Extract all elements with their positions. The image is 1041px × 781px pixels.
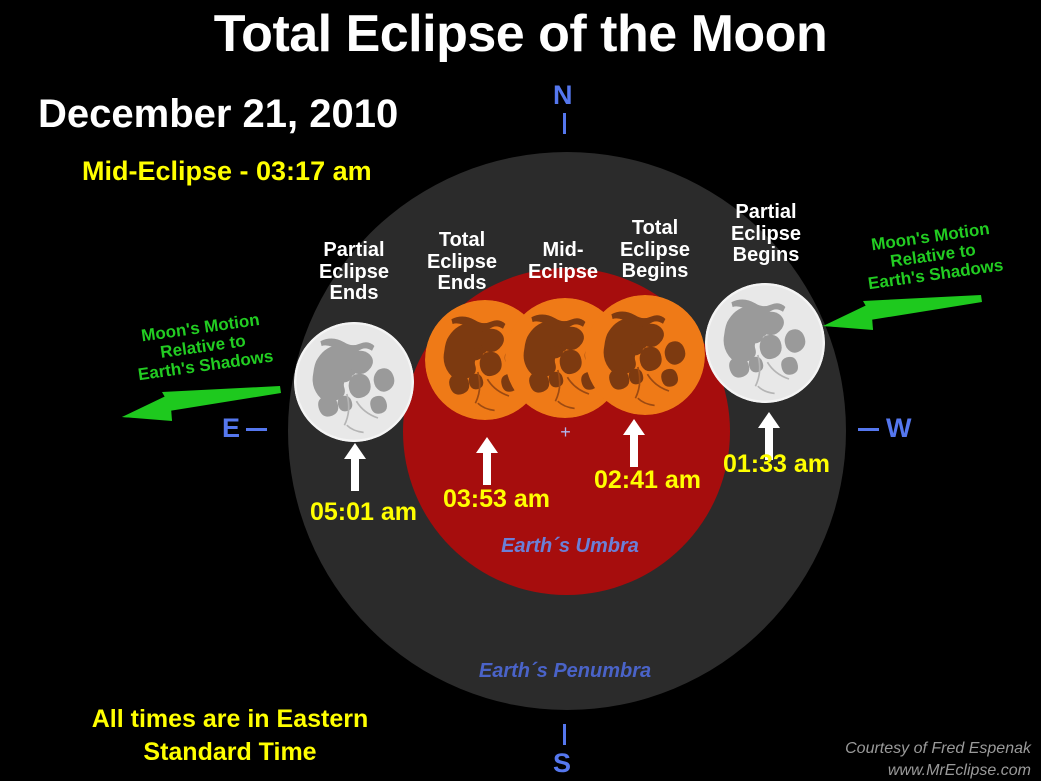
credit-author: Courtesy of Fred Espenak	[845, 738, 1031, 760]
page-title: Total Eclipse of the Moon	[0, 4, 1041, 64]
time-label-partial-eclipse-ends: 05:01 am	[310, 498, 417, 527]
moon-motion-arrow-right-icon	[823, 295, 983, 333]
compass-north-label: N	[553, 80, 573, 111]
phase-caption-total-eclipse-ends: Total Eclipse Ends	[405, 230, 519, 295]
shadow-center-marker: +	[558, 425, 573, 440]
moon-disc-partial-eclipse-ends	[294, 322, 414, 442]
compass-west-label: W	[886, 413, 911, 444]
time-label-total-eclipse-begins: 02:41 am	[594, 466, 701, 495]
phase-caption-partial-eclipse-ends: Partial Eclipse Ends	[297, 240, 411, 305]
pointer-arrow-partial-eclipse-ends	[343, 443, 367, 491]
mid-eclipse-time-label: Mid-Eclipse - 03:17 am	[82, 156, 372, 187]
time-label-partial-eclipse-begins: 01:33 am	[723, 450, 830, 479]
time-label-total-eclipse-ends: 03:53 am	[443, 485, 550, 514]
moon-motion-label-left: Moon's Motion Relative to Earth's Shadow…	[110, 306, 296, 388]
earths-penumbra-label: Earth´s Penumbra	[420, 660, 710, 683]
moon-motion-arrow-left-icon	[122, 386, 282, 424]
credit-website: www.MrEclipse.com	[845, 760, 1031, 781]
moon-disc-partial-eclipse-begins	[705, 283, 825, 403]
moon-disc-total-eclipse-begins	[585, 295, 705, 415]
compass-west-tick	[858, 428, 879, 431]
credit-block: Courtesy of Fred Espenak www.MrEclipse.c…	[845, 738, 1031, 781]
phase-caption-partial-eclipse-begins: Partial Eclipse Begins	[707, 202, 825, 267]
earths-umbra-label: Earth´s Umbra	[425, 535, 715, 558]
compass-south-label: S	[553, 748, 571, 779]
compass-south-tick	[563, 724, 566, 745]
eclipse-diagram: Earth´s Umbra Earth´s Penumbra +	[0, 0, 1041, 781]
eclipse-date: December 21, 2010	[38, 92, 398, 137]
timezone-note: All times are in Eastern Standard Time	[60, 703, 400, 768]
compass-east-label: E	[222, 413, 240, 444]
pointer-arrow-total-eclipse-ends	[475, 437, 499, 485]
pointer-arrow-total-eclipse-begins	[622, 419, 646, 467]
compass-east-tick	[246, 428, 267, 431]
moon-motion-label-right: Moon's Motion Relative to Earth's Shadow…	[840, 215, 1026, 297]
phase-caption-total-eclipse-begins: Total Eclipse Begins	[600, 218, 710, 283]
compass-north-tick	[563, 113, 566, 134]
